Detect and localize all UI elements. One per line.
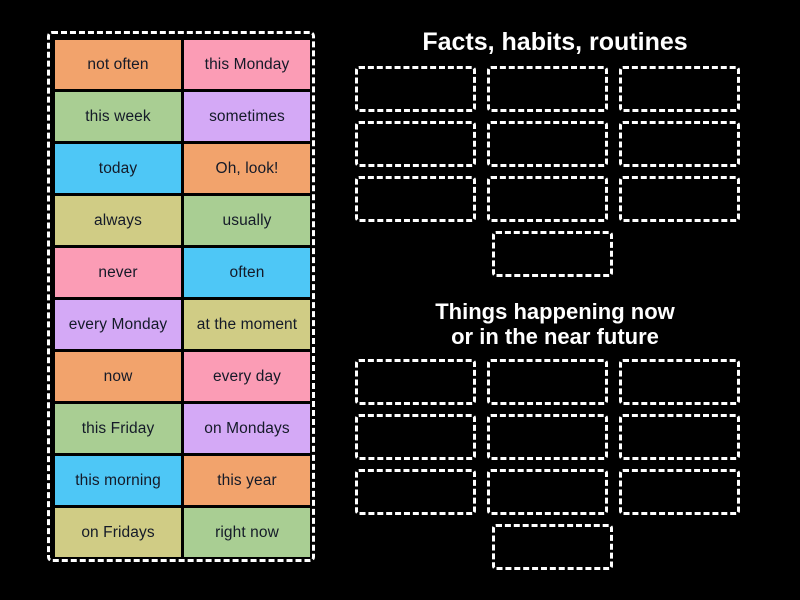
group-title-facts: Facts, habits, routines xyxy=(355,28,755,56)
word-tile[interactable]: every day xyxy=(184,352,310,401)
word-tile-tray: not oftenthis Mondaythis weeksometimesto… xyxy=(47,31,315,562)
drop-zone-facts-6[interactable] xyxy=(619,121,740,167)
group-title-things-line1: Things happening now xyxy=(355,300,755,325)
drop-zone-things-6[interactable] xyxy=(619,414,740,460)
word-tile[interactable]: right now xyxy=(184,508,310,557)
drop-zone-facts-7[interactable] xyxy=(355,176,476,222)
drop-zone-things-4[interactable] xyxy=(355,414,476,460)
drop-zone-facts-5[interactable] xyxy=(487,121,608,167)
drop-zone-facts-1[interactable] xyxy=(355,66,476,112)
drop-zone-things-10[interactable] xyxy=(492,524,613,570)
drop-zone-facts-2[interactable] xyxy=(487,66,608,112)
drop-zone-facts-4[interactable] xyxy=(355,121,476,167)
word-tile[interactable]: this year xyxy=(184,456,310,505)
word-tile[interactable]: sometimes xyxy=(184,92,310,141)
category-group-things: Things happening now or in the near futu… xyxy=(355,300,755,570)
category-group-facts: Facts, habits, routines xyxy=(355,28,755,277)
word-tile[interactable]: often xyxy=(184,248,310,297)
group-title-things: Things happening now or in the near futu… xyxy=(355,300,755,349)
word-tile[interactable]: this morning xyxy=(55,456,181,505)
word-tile[interactable]: every Monday xyxy=(55,300,181,349)
drop-zone-grid-things xyxy=(355,359,750,515)
drop-zone-things-8[interactable] xyxy=(487,469,608,515)
group-title-things-line2: or in the near future xyxy=(355,325,755,350)
drop-zone-facts-8[interactable] xyxy=(487,176,608,222)
word-tile[interactable]: not often xyxy=(55,40,181,89)
drop-zone-lastrow-facts xyxy=(355,231,750,277)
word-tile[interactable]: usually xyxy=(184,196,310,245)
word-tile[interactable]: this Monday xyxy=(184,40,310,89)
word-tile[interactable]: this Friday xyxy=(55,404,181,453)
drop-zone-things-9[interactable] xyxy=(619,469,740,515)
word-tile[interactable]: on Fridays xyxy=(55,508,181,557)
word-tile[interactable]: Oh, look! xyxy=(184,144,310,193)
word-tile[interactable]: never xyxy=(55,248,181,297)
drop-zone-grid-facts xyxy=(355,66,750,222)
word-tile[interactable]: today xyxy=(55,144,181,193)
drop-zone-lastrow-things xyxy=(355,524,750,570)
drop-zone-facts-9[interactable] xyxy=(619,176,740,222)
word-tile[interactable]: always xyxy=(55,196,181,245)
word-tile[interactable]: at the moment xyxy=(184,300,310,349)
drop-zone-facts-10[interactable] xyxy=(492,231,613,277)
drop-zone-things-7[interactable] xyxy=(355,469,476,515)
word-tile[interactable]: this week xyxy=(55,92,181,141)
drop-zone-facts-3[interactable] xyxy=(619,66,740,112)
drop-zone-things-3[interactable] xyxy=(619,359,740,405)
drop-zone-things-2[interactable] xyxy=(487,359,608,405)
drop-zone-things-1[interactable] xyxy=(355,359,476,405)
word-tile-grid: not oftenthis Mondaythis weeksometimesto… xyxy=(55,40,311,557)
word-tile[interactable]: now xyxy=(55,352,181,401)
word-tile[interactable]: on Mondays xyxy=(184,404,310,453)
drop-zone-things-5[interactable] xyxy=(487,414,608,460)
